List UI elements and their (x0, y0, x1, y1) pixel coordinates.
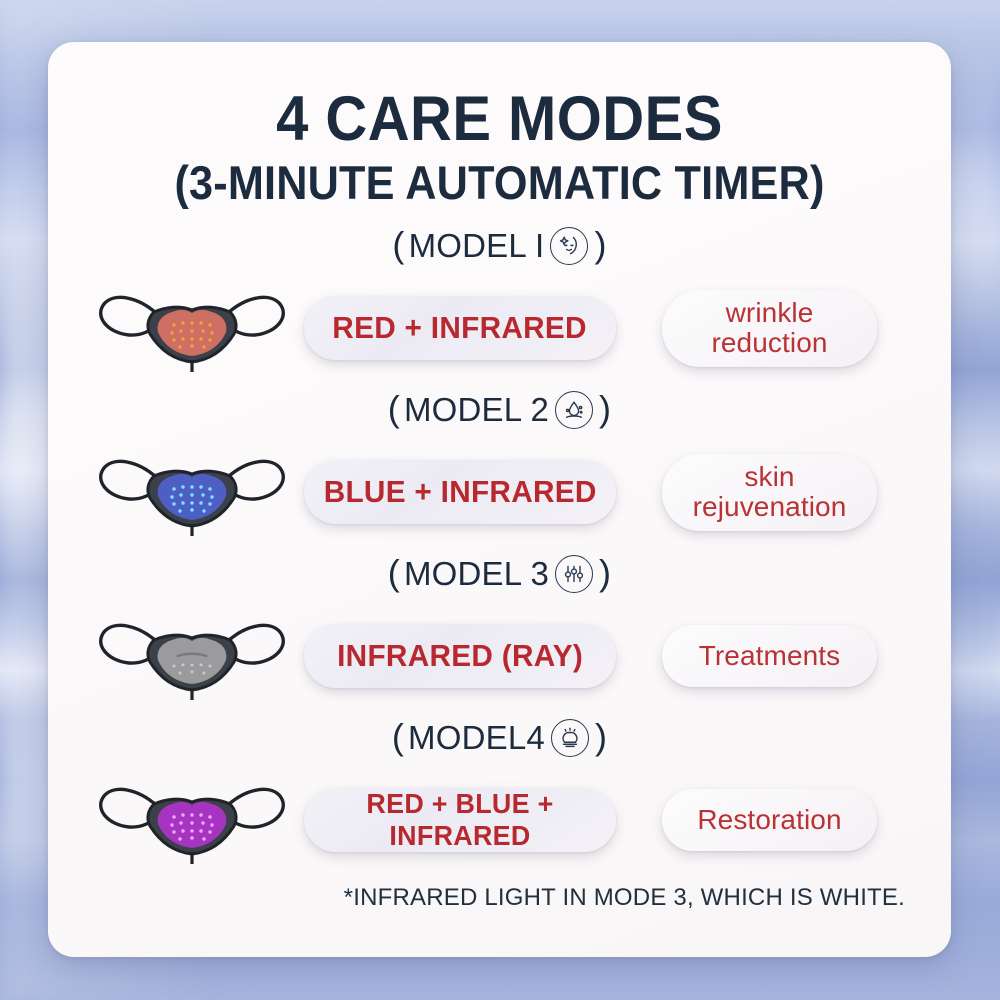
benefit-label-3: Treatments (699, 641, 841, 671)
benefit-pill-1[interactable]: wrinkle reduction (662, 290, 877, 366)
mask-image-1 (88, 280, 296, 376)
footnote: *INFRARED LIGHT IN MODE 3, WHICH IS WHIT… (48, 876, 951, 912)
info-card: 4 CARE MODES (3-MINUTE AUTOMATIC TIMER) … (48, 42, 951, 957)
mode-rows: ( MODEL I ) (48, 220, 951, 876)
mode-pill-1[interactable]: RED + INFRARED (304, 296, 616, 360)
benefit-line-2a: skin (744, 461, 794, 492)
mode-row-3: INFRARED (RAY) Treatments (48, 600, 951, 712)
model-open-paren-2: ( (388, 391, 400, 427)
model-label-2: ( MODEL 2 ) (48, 384, 951, 436)
mode-pill-2[interactable]: BLUE + INFRARED (304, 460, 616, 524)
model-name-2: MODEL 2 (404, 391, 549, 429)
model-label-4: ( MODEL4 ) (48, 712, 951, 764)
model-name-1: MODEL I (409, 227, 545, 265)
page-subtitle: (3-MINUTE AUTOMATIC TIMER) (84, 155, 915, 210)
model-close-paren-3: ) (599, 555, 611, 591)
benefit-line-1b: reduction (711, 327, 827, 358)
benefit-pill-3[interactable]: Treatments (662, 625, 877, 687)
mode-label-3: INFRARED (RAY) (337, 638, 583, 674)
light-bulb-icon (551, 719, 589, 757)
benefit-label-2: skin rejuvenation (693, 462, 847, 522)
mode-label-1: RED + INFRARED (333, 310, 588, 346)
mode-row-1: RED + INFRARED wrinkle reduction (48, 272, 951, 384)
mask-image-4 (88, 772, 296, 868)
page-title: 4 CARE MODES (84, 88, 915, 151)
benefit-pill-4[interactable]: Restoration (662, 789, 877, 851)
benefit-pill-2[interactable]: skin rejuvenation (662, 454, 877, 530)
benefit-label-4: Restoration (697, 805, 841, 835)
model-close-paren-1: ) (594, 227, 606, 263)
mode-row-2: BLUE + INFRARED skin rejuvenation (48, 436, 951, 548)
benefit-line-1a: wrinkle (726, 297, 814, 328)
mode-pill-4[interactable]: RED + BLUE + INFRARED (304, 788, 616, 852)
mask-image-2 (88, 444, 296, 540)
model-open-paren-4: ( (392, 719, 404, 755)
model-close-paren-4: ) (595, 719, 607, 755)
mask-image-3 (88, 608, 296, 704)
mode-label-2: BLUE + INFRARED (323, 474, 596, 510)
mode-label-4: RED + BLUE + INFRARED (310, 788, 610, 852)
mode-pill-3[interactable]: INFRARED (RAY) (304, 624, 616, 688)
mode-row-4: RED + BLUE + INFRARED Restoration (48, 764, 951, 876)
model-label-3: ( MODEL 3 ) (48, 548, 951, 600)
sliders-settings-icon (555, 555, 593, 593)
model-close-paren-2: ) (599, 391, 611, 427)
model-label-1: ( MODEL I ) (48, 220, 951, 272)
benefit-line-2b: rejuvenation (693, 491, 847, 522)
water-droplet-icon (555, 391, 593, 429)
model-name-3: MODEL 3 (404, 555, 549, 593)
model-open-paren-1: ( (392, 227, 404, 263)
benefit-label-1: wrinkle reduction (711, 298, 827, 358)
glowing-face-icon (550, 227, 588, 265)
model-open-paren-3: ( (388, 555, 400, 591)
model-name-4: MODEL4 (408, 719, 545, 757)
title-block: 4 CARE MODES (3-MINUTE AUTOMATIC TIMER) (48, 42, 951, 210)
